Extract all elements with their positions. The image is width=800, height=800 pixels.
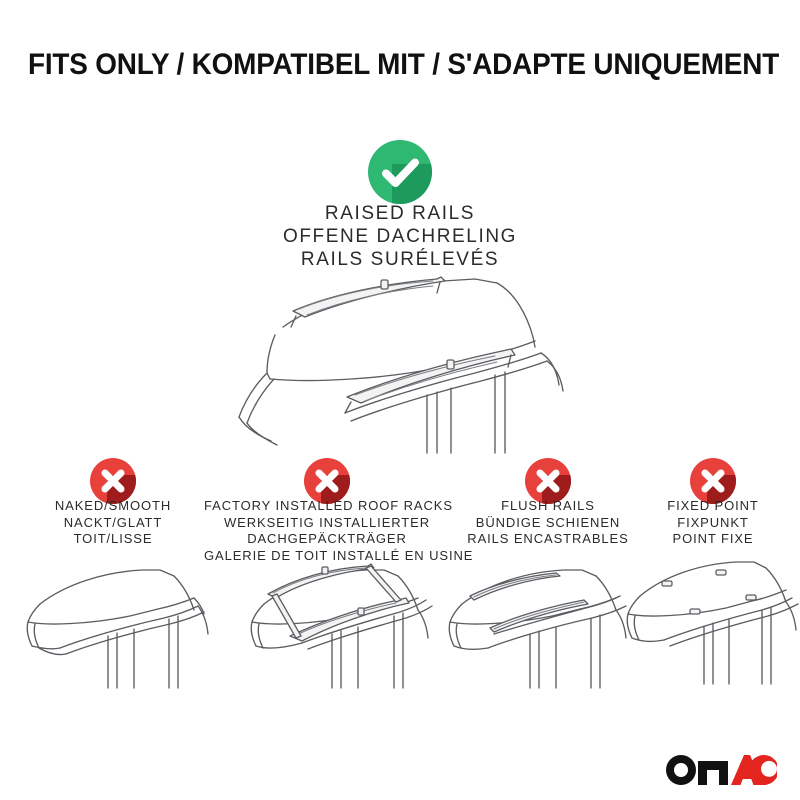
car-roof-with-factory-crossbars-illustration xyxy=(228,546,443,691)
label-line: WERKSEITIG INSTALLIERTER xyxy=(204,515,450,532)
label-line: NAKED/SMOOTH xyxy=(13,498,213,515)
incompatible-label-fixed-point: FIXED POINT FIXPUNKT POINT FIXE xyxy=(628,498,798,548)
label-line: FIXPUNKT xyxy=(628,515,798,532)
car-roof-bare-illustration xyxy=(8,556,223,691)
label-line: FACTORY INSTALLED ROOF RACKS xyxy=(204,498,450,515)
omac-logo xyxy=(665,752,777,788)
check-circle-icon xyxy=(368,140,432,204)
car-roof-with-fixed-points-illustration xyxy=(612,552,800,687)
car-roof-with-raised-rails-illustration xyxy=(175,275,625,455)
label-line: FLUSH RAILS xyxy=(443,498,653,515)
incompatible-label-flush-rails: FLUSH RAILS BÜNDIGE SCHIENEN RAILS ENCAS… xyxy=(443,498,653,548)
compatible-line-de: OFFENE DACHRELING xyxy=(0,225,800,248)
label-line: BÜNDIGE SCHIENEN xyxy=(443,515,653,532)
label-line: TOIT/LISSE xyxy=(13,531,213,548)
label-line: POINT FIXE xyxy=(628,531,798,548)
compatible-line-fr: RAILS SURÉLEVÉS xyxy=(0,248,800,271)
label-line: RAILS ENCASTRABLES xyxy=(443,531,653,548)
infographic-page: FITS ONLY / KOMPATIBEL MIT / S'ADAPTE UN… xyxy=(0,0,800,800)
label-line: NACKT/GLATT xyxy=(13,515,213,532)
page-title: FITS ONLY / KOMPATIBEL MIT / S'ADAPTE UN… xyxy=(28,48,772,82)
label-line: FIXED POINT xyxy=(628,498,798,515)
compatible-line-en: RAISED RAILS xyxy=(0,202,800,225)
compatible-label: RAISED RAILS OFFENE DACHRELING RAILS SUR… xyxy=(0,202,800,271)
incompatible-label-naked-smooth: NAKED/SMOOTH NACKT/GLATT TOIT/LISSE xyxy=(13,498,213,548)
